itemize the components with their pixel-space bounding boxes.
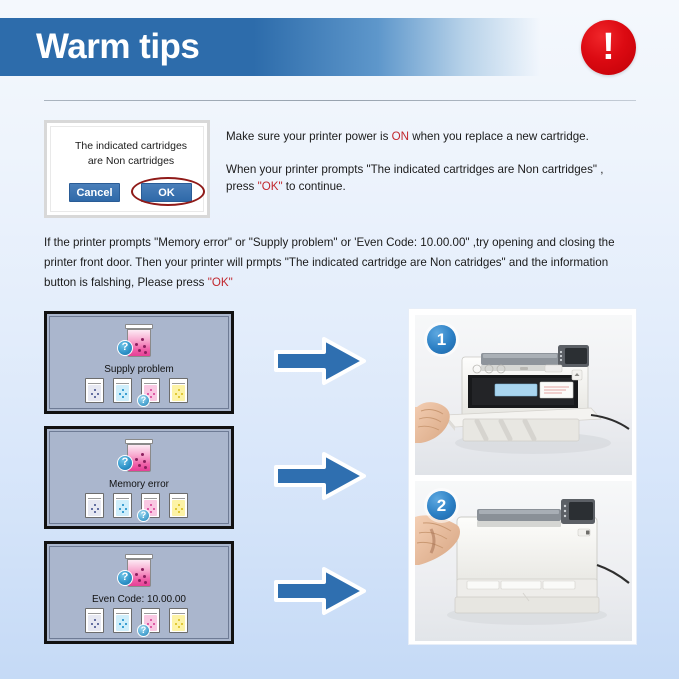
yellow-cartridge-icon [169,378,188,403]
cartridge-question-badge-icon: ? [137,624,150,637]
dialog-button-row: Cancel OK [51,179,211,209]
question-badge-icon: ? [117,570,133,586]
right-arrow-icon [272,334,368,388]
cartridge-question-badge-icon: ? [137,509,150,522]
page-title: Warm tips [36,27,199,67]
flask-shape: ? [126,439,152,472]
toner-flask-icon: ? [47,552,231,594]
toner-flask-icon: ? [47,437,231,479]
exclamation-icon: ! [581,20,636,75]
question-badge-icon: ? [117,340,133,356]
lcd-panel-even-code: ? Even Code: 10.00.00 ? [44,541,234,644]
cartridge-dialog: The indicated cartridges are Non cartrid… [44,120,210,218]
toner-flask-icon: ? [47,322,231,364]
flask-shape: ? [126,324,152,357]
p3-highlight-ok: "OK" [208,276,233,289]
dialog-message-line-1: The indicated cartridges [57,139,205,154]
cartridge-question-badge-icon: ? [137,394,150,407]
cartridge-row: ? [47,378,231,408]
dialog-message: The indicated cartridges are Non cartrid… [57,139,205,169]
p1-text-a: Make sure your printer power is [226,130,392,143]
lcd-panel-memory-error: ? Memory error ? [44,426,234,529]
black-cartridge-icon [85,378,104,403]
printer-door-closed-photo: 2 [415,481,632,641]
p2-text-b: to continue. [283,180,346,193]
p1-text-b: when you replace a new cartridge. [409,130,589,143]
cancel-button[interactable]: Cancel [69,183,120,202]
cyan-cartridge-icon [113,608,132,633]
dialog-inner-frame: The indicated cartridges are Non cartrid… [50,126,204,212]
black-cartridge-icon [85,493,104,518]
paragraph-power-on: Make sure your printer power is ON when … [226,128,641,145]
paragraph-press-ok: When your printer prompts "The indicated… [226,161,606,195]
right-arrow-icon [272,449,368,503]
lcd-panel-supply-problem: ? Supply problem ? [44,311,234,414]
ok-button[interactable]: OK [141,183,192,202]
flask-shape: ? [126,554,152,587]
header-divider [44,100,636,101]
question-badge-icon: ? [117,455,133,471]
printer-door-open-photo: 1 [415,315,632,475]
p1-highlight-on: ON [392,130,409,143]
cyan-cartridge-icon [113,378,132,403]
right-arrow-icon [272,564,368,618]
step-badge-2: 2 [427,491,456,520]
cartridge-row: ? [47,608,231,638]
yellow-cartridge-icon [169,608,188,633]
page-header: Warm tips [0,18,679,76]
black-cartridge-icon [85,608,104,633]
exclamation-glyph: ! [581,20,636,75]
dialog-message-line-2: are Non cartridges [57,154,205,169]
lcd-status-label: Even Code: 10.00.00 [47,594,231,605]
photo-panel: 1 [408,308,637,645]
lcd-status-label: Memory error [47,479,231,490]
cyan-cartridge-icon [113,493,132,518]
yellow-cartridge-icon [169,493,188,518]
p2-highlight-ok: "OK" [258,180,283,193]
p3-text-a: If the printer prompts "Memory error" or… [44,236,615,289]
warm-tips-page: Warm tips ! The indicated cartridges are… [0,0,679,679]
step-badge-1: 1 [427,325,456,354]
cartridge-row: ? [47,493,231,523]
paragraph-error-codes: If the printer prompts "Memory error" or… [44,233,639,293]
lcd-status-label: Supply problem [47,364,231,375]
